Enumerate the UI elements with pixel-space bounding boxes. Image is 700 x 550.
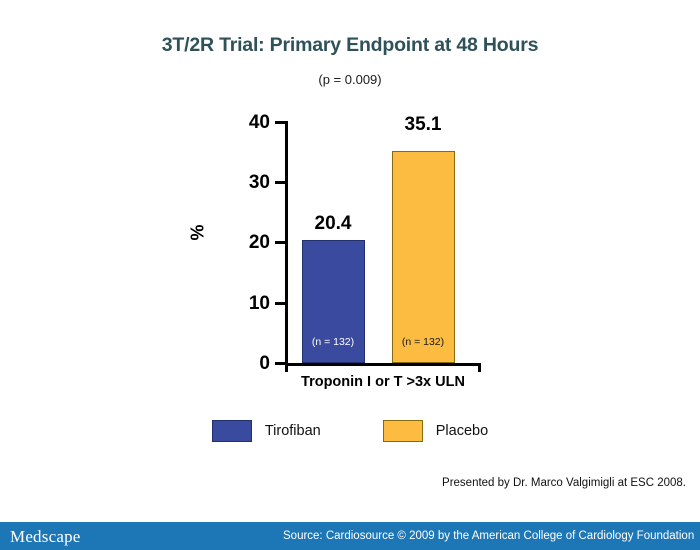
bar-n-placebo: (n = 132)	[387, 336, 459, 348]
x-axis-title: Troponin I or T >3x ULN	[233, 374, 533, 390]
footer-bar: Medscape Source: Cardiosource © 2009 by …	[0, 522, 700, 550]
y-axis-title: %	[188, 213, 209, 253]
legend-item-tirofiban[interactable]: Tirofiban	[212, 420, 321, 442]
presentation-attribution: Presented by Dr. Marco Valgimigli at ESC…	[442, 477, 686, 489]
bar-value-placebo: 35.1	[378, 114, 468, 136]
legend-swatch-placebo	[383, 420, 423, 442]
bar-placebo[interactable]	[392, 151, 455, 363]
y-axis-tick-30	[275, 181, 286, 184]
source-citation: Source: Cardiosource © 2009 by the Ameri…	[283, 530, 694, 542]
y-axis-label-30: 30	[228, 173, 270, 192]
x-axis-line	[285, 363, 481, 366]
legend-label-tirofiban: Tirofiban	[265, 423, 321, 439]
y-axis-label-10: 10	[228, 294, 270, 313]
y-axis-tick-40	[275, 121, 286, 124]
y-axis-label-0: 0	[228, 354, 270, 373]
medscape-logo[interactable]: Medscape	[10, 527, 81, 547]
y-axis-tick-0	[275, 362, 286, 365]
chart-legend: Tirofiban Placebo	[0, 420, 700, 442]
slide-canvas: 3T/2R Trial: Primary Endpoint at 48 Hour…	[0, 0, 700, 550]
y-axis-label-40: 40	[228, 113, 270, 132]
legend-swatch-tirofiban	[212, 420, 252, 442]
legend-label-placebo: Placebo	[436, 423, 488, 439]
legend-item-placebo[interactable]: Placebo	[383, 420, 488, 442]
y-axis-label-20: 20	[228, 233, 270, 252]
bar-n-tirofiban: (n = 132)	[297, 336, 369, 348]
x-axis-tick-right	[478, 363, 481, 372]
y-axis-tick-10	[275, 302, 286, 305]
bar-value-tirofiban: 20.4	[288, 213, 378, 235]
bar-chart: 0 10 20 30 40 % Troponin I or T >3x ULN …	[0, 0, 700, 470]
y-axis-tick-20	[275, 241, 286, 244]
